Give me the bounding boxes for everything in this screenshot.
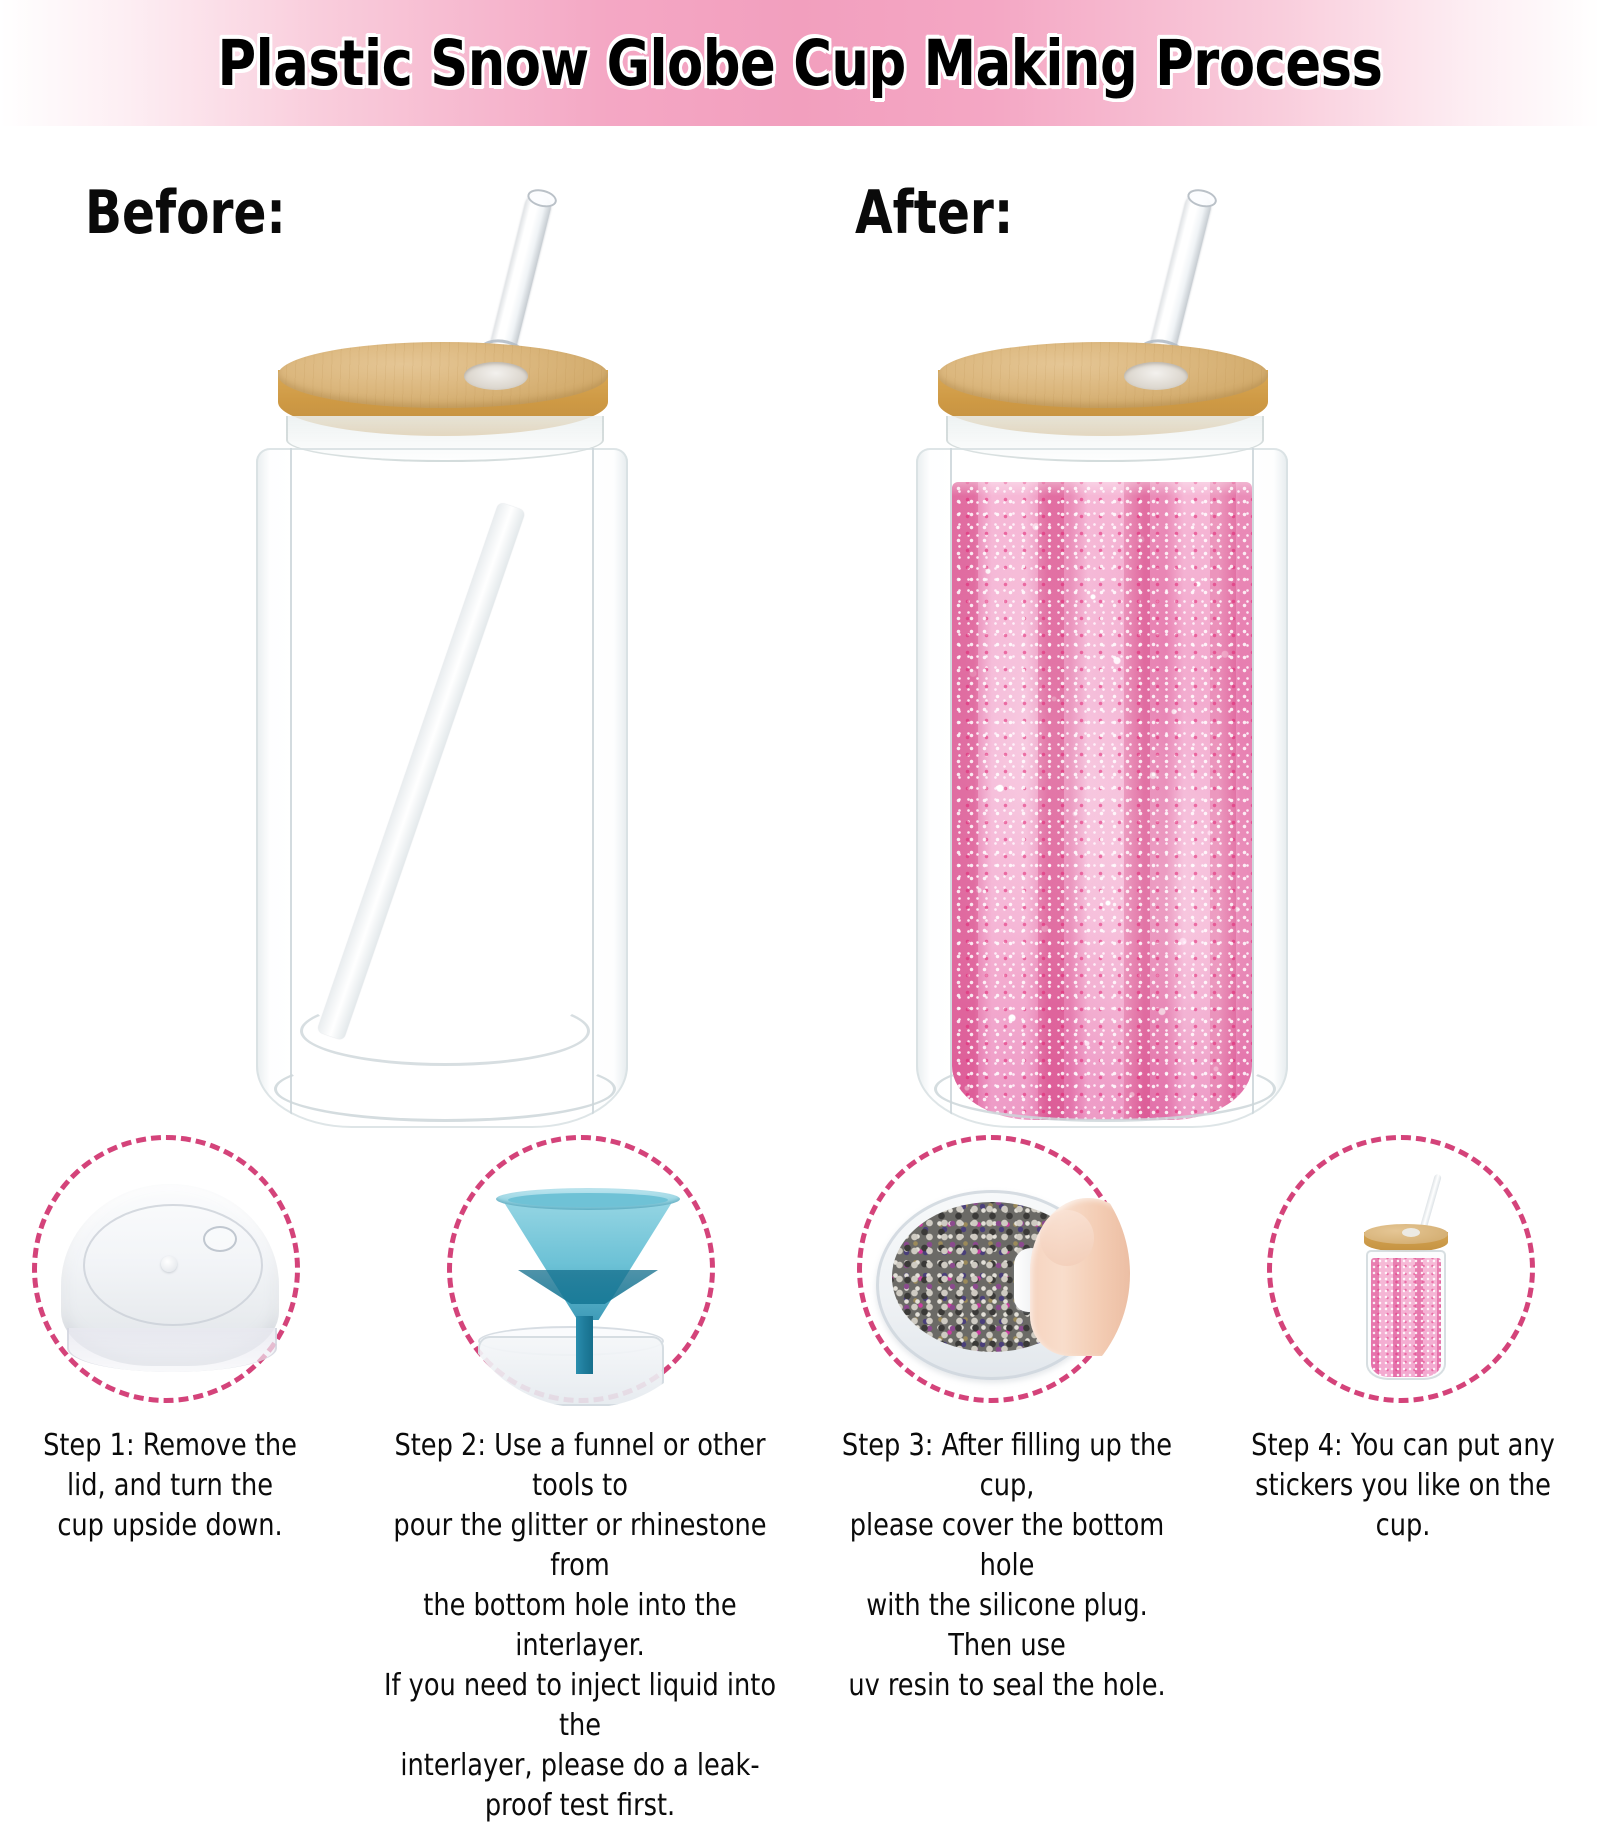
lid-wood-grain xyxy=(938,342,1268,408)
step-4-thumbnail xyxy=(1267,1135,1535,1403)
inverted-cup-bottom-image xyxy=(37,1140,305,1408)
step-1-caption: Step 1: Remove the lid, and turn the cup… xyxy=(28,1426,313,1546)
mini-lid-hole xyxy=(1402,1228,1420,1237)
step-3-caption: Step 3: After filling up the cup, please… xyxy=(831,1426,1183,1706)
inner-wall-right xyxy=(1252,448,1254,1128)
lid-wood-grain xyxy=(278,342,608,408)
cup-bottom-skirt xyxy=(67,1328,277,1372)
cup-base-ellipse xyxy=(274,1056,616,1122)
funnel-stem xyxy=(576,1316,593,1374)
step-4-caption: Step 4: You can put any stickers you lik… xyxy=(1237,1426,1570,1546)
funnel-pouring-image xyxy=(452,1140,720,1408)
mini-glitter-sparkles xyxy=(1371,1258,1441,1377)
cup-body-before xyxy=(256,448,628,1128)
mini-cup xyxy=(1356,1172,1456,1382)
glitter-top-highlight xyxy=(952,470,1252,496)
cup-base-ellipse xyxy=(934,1056,1276,1122)
bottom-hole-icon xyxy=(203,1226,237,1252)
step-1-thumbnail xyxy=(32,1135,300,1403)
before-cup-photo xyxy=(230,180,650,1130)
after-cup-photo xyxy=(890,180,1310,1130)
cup-body-after xyxy=(916,448,1288,1128)
inner-wall-left xyxy=(290,448,292,1128)
funnel-liquid-pool xyxy=(518,1270,658,1304)
inner-wall-left xyxy=(950,448,952,1128)
inner-straw-shadow xyxy=(317,502,526,1041)
bamboo-lid-after xyxy=(938,342,1268,458)
glitter-sparkles xyxy=(952,482,1252,1120)
finished-cup-image xyxy=(1272,1140,1540,1408)
inner-wall-right xyxy=(592,448,594,1128)
lid-straw-hole xyxy=(1124,362,1188,390)
step-3-thumbnail xyxy=(857,1135,1125,1403)
step-2-caption: Step 2: Use a funnel or other tools to p… xyxy=(376,1426,785,1826)
funnel-rim-inner xyxy=(508,1193,668,1207)
page-title: Plastic Snow Globe Cup Making Process xyxy=(56,0,1544,126)
bamboo-lid-before xyxy=(278,342,608,458)
mini-cup-body xyxy=(1366,1250,1446,1380)
cup-bottom-nub xyxy=(161,1256,177,1272)
rhinestone-plug-image xyxy=(862,1140,1130,1408)
cup-base-block xyxy=(478,1336,664,1406)
fingernail xyxy=(1040,1210,1094,1266)
step-2-thumbnail xyxy=(447,1135,715,1403)
lid-straw-hole xyxy=(464,362,528,390)
